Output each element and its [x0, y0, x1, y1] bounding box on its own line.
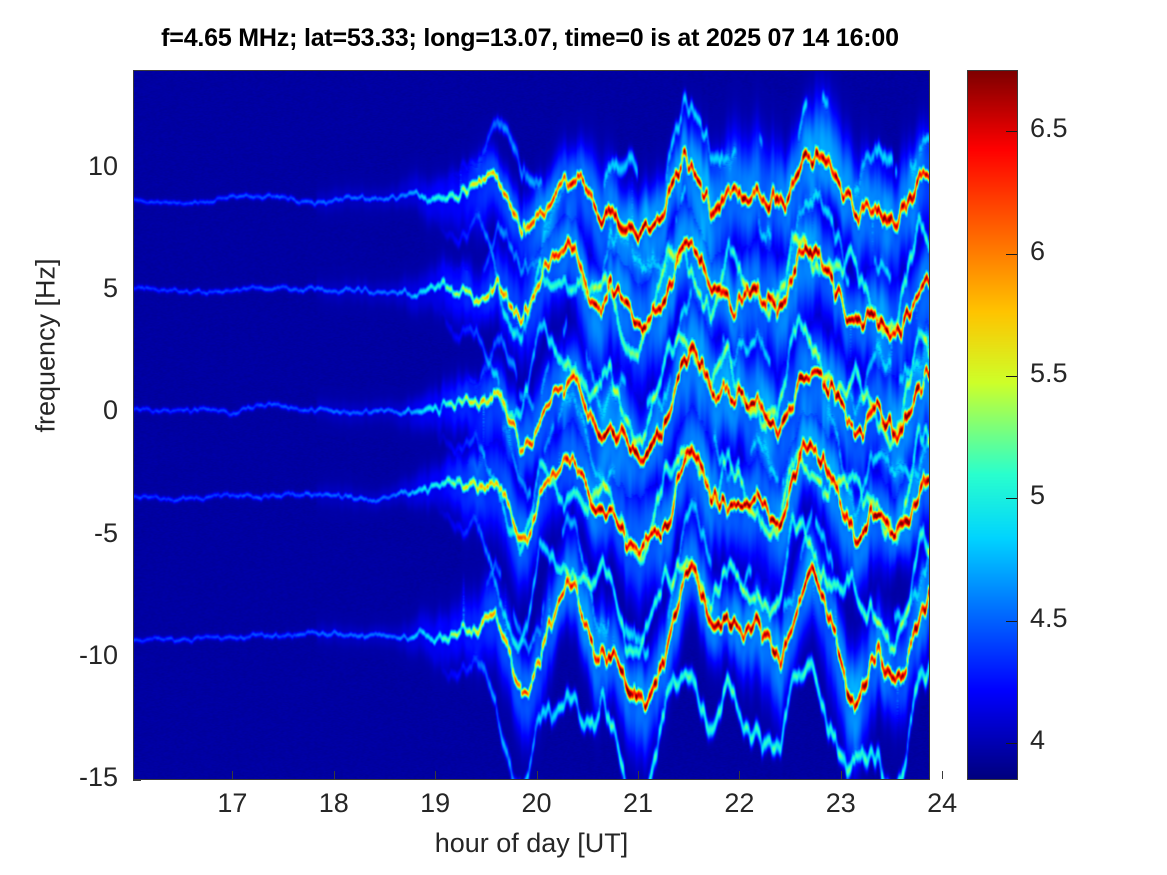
x-axis-label: hour of day [UT] — [133, 828, 930, 859]
x-tick-label: 24 — [902, 788, 982, 819]
x-tick-mark — [537, 771, 538, 779]
x-tick-label: 19 — [395, 788, 475, 819]
x-tick-mark — [232, 771, 233, 779]
spectrogram-plot-area — [133, 70, 930, 780]
y-tick-label: -5 — [8, 518, 118, 549]
colorbar-tick-label: 4.5 — [1030, 603, 1068, 634]
x-tick-label: 21 — [598, 788, 678, 819]
y-tick-label: 5 — [8, 273, 118, 304]
colorbar-tick-label: 5.5 — [1030, 358, 1068, 389]
colorbar-tick-label: 6.5 — [1030, 113, 1068, 144]
colorbar-tick-label: 6 — [1030, 236, 1045, 267]
colorbar-tick-label: 5 — [1030, 480, 1045, 511]
x-tick-mark — [942, 771, 943, 779]
chart-title: f=4.65 MHz; lat=53.33; long=13.07, time=… — [0, 24, 1060, 53]
x-tick-mark — [334, 771, 335, 779]
colorbar-tick-mark — [1006, 254, 1017, 255]
colorbar-gradient — [968, 71, 1017, 779]
y-tick-label: 0 — [8, 395, 118, 426]
x-tick-label: 22 — [699, 788, 779, 819]
x-tick-label: 17 — [192, 788, 272, 819]
colorbar-tick-mark — [1006, 131, 1017, 132]
x-tick-label: 18 — [294, 788, 374, 819]
y-tick-mark — [133, 780, 141, 781]
colorbar-tick-label: 4 — [1030, 725, 1045, 756]
x-tick-mark — [739, 771, 740, 779]
colorbar-tick-mark — [1006, 743, 1017, 744]
x-tick-label: 23 — [801, 788, 881, 819]
x-tick-label: 20 — [497, 788, 577, 819]
colorbar-tick-mark — [1006, 621, 1017, 622]
y-tick-label: -10 — [8, 640, 118, 671]
figure-canvas: f=4.65 MHz; lat=53.33; long=13.07, time=… — [0, 0, 1167, 875]
y-tick-label: -15 — [8, 762, 118, 793]
x-tick-mark — [435, 771, 436, 779]
colorbar — [967, 70, 1018, 780]
spectrogram-image — [134, 71, 929, 779]
y-tick-label: 10 — [8, 151, 118, 182]
colorbar-tick-mark — [1006, 376, 1017, 377]
colorbar-tick-mark — [1006, 498, 1017, 499]
y-axis-label: frequency [Hz] — [31, 196, 62, 496]
x-tick-mark — [638, 771, 639, 779]
x-tick-mark — [841, 771, 842, 779]
